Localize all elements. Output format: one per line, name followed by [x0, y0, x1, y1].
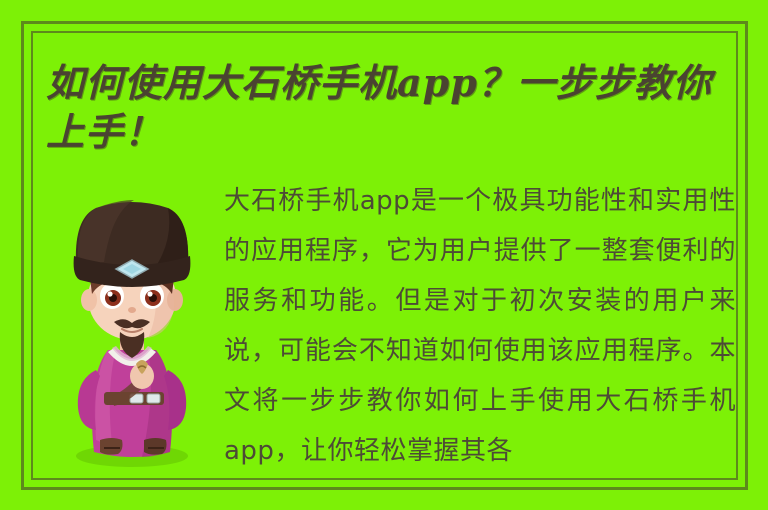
page-title: 如何使用大石桥手机app？一步步教你上手！ [46, 58, 736, 156]
character-illustration [52, 182, 212, 468]
article-body: 大石桥手机app是一个极具功能性和实用性的应用程序，它为用户提供了一整套便利的服… [224, 176, 736, 476]
poster-canvas: 如何使用大石桥手机app？一步步教你上手！ [0, 0, 768, 510]
